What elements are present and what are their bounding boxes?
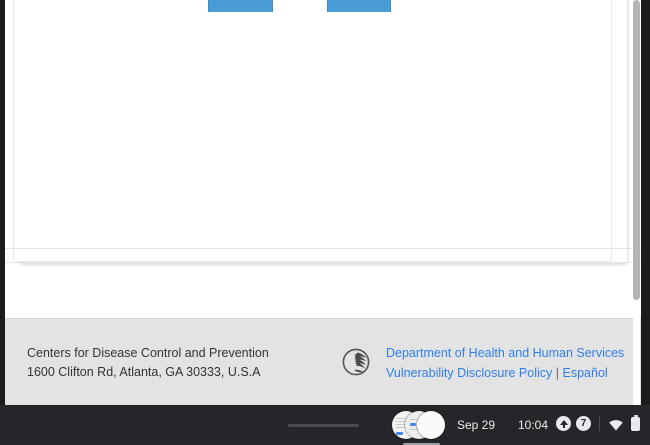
notification-count-badge[interactable]: 7 xyxy=(576,416,591,431)
hhs-eagle-logo-icon xyxy=(341,345,377,379)
divider-2 xyxy=(5,262,645,263)
page-surface: Some other source → Please tell us which… xyxy=(5,0,645,405)
footer-address-block: Centers for Disease Control and Preventi… xyxy=(27,344,269,382)
link-espanol[interactable]: Español xyxy=(563,366,608,380)
divider-1 xyxy=(5,248,645,249)
screen: Some other source → Please tell us which… xyxy=(0,0,650,445)
footer-links: Department of Health and Human Services … xyxy=(386,343,624,383)
upload-arrow-icon[interactable] xyxy=(556,416,571,431)
shelf-drag-handle[interactable] xyxy=(288,424,359,427)
reset-button[interactable] xyxy=(327,0,391,12)
chromeos-shelf: Sep 29 10:04 7 xyxy=(0,405,650,445)
browser-viewport: Some other source → Please tell us which… xyxy=(5,0,645,405)
shelf-separator xyxy=(599,416,600,431)
submit-button[interactable] xyxy=(208,0,273,12)
page-footer: Centers for Disease Control and Preventi… xyxy=(5,318,645,405)
battery-icon[interactable] xyxy=(631,417,640,431)
shelf-time[interactable]: 10:04 xyxy=(518,418,548,432)
link-vulnerability-disclosure-policy[interactable]: Vulnerability Disclosure Policy xyxy=(386,366,552,380)
window-edge-right xyxy=(641,0,650,405)
footer-link-separator: | xyxy=(556,366,559,380)
wifi-icon[interactable] xyxy=(609,418,623,429)
form-card-inner: Some other source → Please tell us which… xyxy=(13,0,612,262)
shelf-date[interactable]: Sep 29 xyxy=(457,418,495,432)
notification-count-label: 7 xyxy=(576,416,591,431)
footer-address-line: 1600 Clifton Rd, Atlanta, GA 30333, U.S.… xyxy=(27,363,269,382)
page-scrollbar-thumb[interactable] xyxy=(633,0,640,300)
window-preview-thumbnail[interactable] xyxy=(417,411,445,439)
window-preview-group[interactable] xyxy=(392,411,448,439)
link-hhs[interactable]: Department of Health and Human Services xyxy=(386,346,624,360)
form-actions xyxy=(14,0,611,12)
footer-org-name: Centers for Disease Control and Preventi… xyxy=(27,344,269,363)
window-edge-left xyxy=(0,0,5,405)
